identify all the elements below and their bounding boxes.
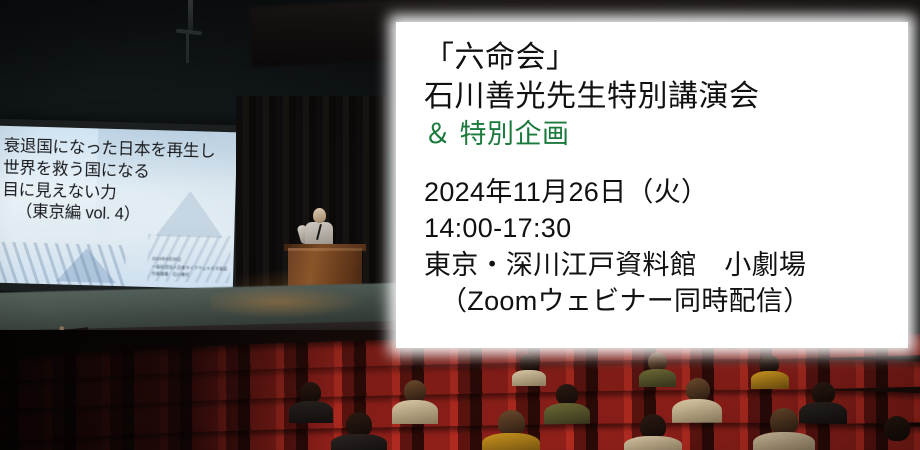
event-info-card: 「六命会」 石川善光先生特別講演会 ＆ 特別企画 2024年11月26日（火） … xyxy=(396,22,908,348)
event-details: 2024年11月26日（火） 14:00-17:30 東京・深川江戸資料館 小劇… xyxy=(424,174,894,319)
audience-head xyxy=(686,378,710,401)
audience-torso xyxy=(331,434,387,450)
event-streaming-note: （Zoomウェビナー同時配信） xyxy=(424,283,894,319)
audience-torso xyxy=(392,400,438,424)
audience-torso xyxy=(624,436,682,450)
audience-head xyxy=(404,380,426,402)
lecture-announcement-image: 衰退国になった日本を再生し 世界を救う国になる 目に見えない力 （東京編 vol… xyxy=(0,0,920,450)
event-title-line-1: 「六命会」 xyxy=(424,38,894,77)
audience-torso xyxy=(482,433,540,450)
stage-floor-spotlight xyxy=(210,286,400,320)
speaker-head xyxy=(313,208,326,223)
event-title-line-2: 石川善光先生特別講演会 xyxy=(424,77,894,116)
event-title-line-3: ＆ 特別企画 xyxy=(424,116,894,152)
slide-text-block: 衰退国になった日本を再生し 世界を救う国になる 目に見えない力 （東京編 vol… xyxy=(2,136,233,229)
audience-torso xyxy=(512,370,546,386)
audience-shadow-overlay xyxy=(0,330,330,450)
stage-light-fixture xyxy=(188,0,193,34)
audience-head xyxy=(812,382,835,404)
audience-torso xyxy=(544,403,590,426)
event-date: 2024年11月26日（火） xyxy=(424,174,894,210)
audience-head xyxy=(556,384,578,405)
projection-screen: 衰退国になった日本を再生し 世界を救う国になる 目に見えない力 （東京編 vol… xyxy=(0,119,244,298)
projection-screen-surface: 衰退国になった日本を再生し 世界を救う国になる 目に見えない力 （東京編 vol… xyxy=(0,126,237,290)
audience-head xyxy=(770,408,798,435)
event-info-content: 「六命会」 石川善光先生特別講演会 ＆ 特別企画 2024年11月26日（火） … xyxy=(424,38,894,319)
event-time: 14:00-17:30 xyxy=(424,210,894,246)
audience-torso xyxy=(639,369,676,387)
audience-head xyxy=(884,416,910,441)
audience-torso xyxy=(751,371,789,389)
audience-torso xyxy=(753,432,815,450)
slide-rooftops-art xyxy=(0,242,126,286)
audience-seating xyxy=(0,330,920,450)
audience-torso xyxy=(672,399,722,425)
slide-credit-block: 2024年8月30日 一般社団法人日本ライフウェルネス協会 代表理事 石川善光 xyxy=(152,255,228,280)
event-venue: 東京・深川江戸資料館 小劇場 xyxy=(424,247,894,283)
